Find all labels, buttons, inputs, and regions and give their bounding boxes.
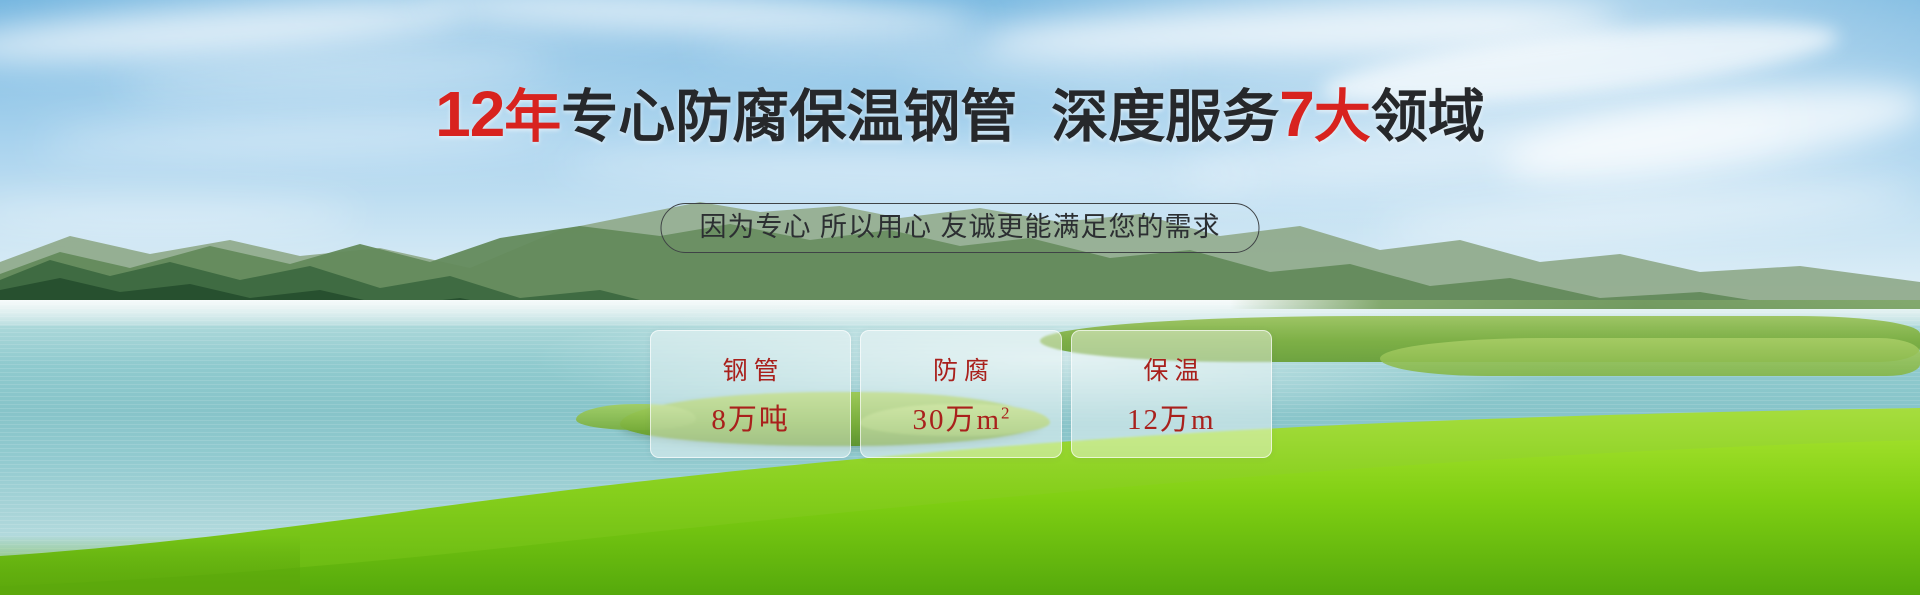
stat-card-steel-pipe[interactable]: 钢管 8万吨	[650, 330, 851, 458]
stat-value: 12万m	[1127, 396, 1216, 438]
headline-fields-number: 7	[1279, 78, 1314, 150]
stat-card-anticorrosion[interactable]: 防腐 30万m2	[860, 330, 1061, 458]
stat-label: 防腐	[927, 351, 995, 387]
stat-unit: 万m	[945, 404, 1001, 436]
distant-shoreline	[1230, 300, 1920, 309]
stat-unit: 万吨	[728, 404, 790, 436]
banner-subtitle-pill: 因为专心 所以用心 友诚更能满足您的需求	[660, 203, 1259, 253]
headline-main-phrase: 专心防腐保温钢管	[561, 85, 1017, 149]
stat-superscript: 2	[1001, 403, 1010, 422]
headline-fields-unit: 大	[1314, 85, 1371, 149]
marsh-band-2	[1380, 338, 1920, 376]
headline-years-unit: 年	[504, 85, 561, 149]
stat-label: 保温	[1137, 351, 1205, 387]
banner-headline: 12年专心防腐保温钢管深度服务7大领域	[0, 83, 1920, 148]
stat-label: 钢管	[717, 351, 785, 387]
stat-unit: 万m	[1160, 404, 1216, 436]
stat-number: 8	[711, 404, 728, 436]
stat-number: 30	[912, 404, 945, 436]
stat-value: 30万m2	[912, 396, 1009, 438]
stat-card-group: 钢管 8万吨 防腐 30万m2 保温 12万m	[650, 330, 1272, 458]
left-shore-grass	[0, 535, 300, 595]
headline-fields-word: 领域	[1371, 85, 1485, 149]
stat-number: 12	[1127, 404, 1160, 436]
headline-years-number: 12	[435, 78, 504, 150]
promo-banner: 12年专心防腐保温钢管深度服务7大领域 因为专心 所以用心 友诚更能满足您的需求…	[0, 0, 1920, 595]
stat-card-insulation[interactable]: 保温 12万m	[1071, 330, 1272, 458]
headline-service-phrase: 深度服务	[1051, 85, 1279, 149]
stat-value: 8万吨	[711, 396, 790, 438]
